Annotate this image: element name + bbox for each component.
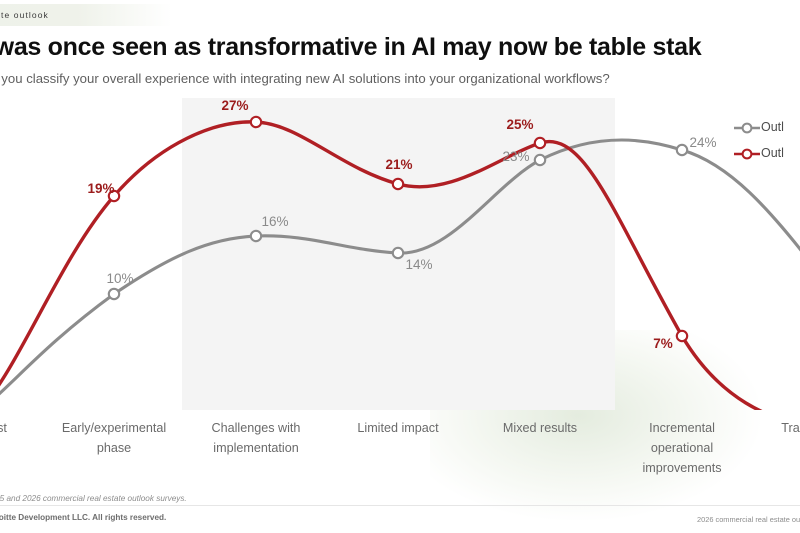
x-axis-label-6: Tran — [744, 418, 800, 438]
x-axis-label-4: Mixed results — [460, 418, 620, 438]
x-axis-label-3: Limited impact — [318, 418, 478, 438]
data-label: 21% — [385, 157, 412, 172]
legend-marker-icon — [734, 147, 760, 159]
x-axis-label-1: Early/experimental phase — [34, 418, 194, 458]
line-chart: 19% 27% 21% 25% 7% 10% 16% 14% 23% 24% — [0, 98, 800, 410]
footer-source-note: 2025 and 2026 commercial real estate out… — [0, 494, 187, 503]
footer-right-tag: 2026 commercial real estate ou — [697, 515, 800, 524]
x-axis-label-line: Early/experimental — [34, 418, 194, 438]
data-label: 16% — [261, 214, 288, 229]
x-axis-label-line: phase — [34, 438, 194, 458]
data-label: 14% — [405, 257, 432, 272]
legend-item-2026[interactable]: Outl — [734, 140, 800, 166]
legend-marker-icon — [734, 121, 760, 133]
data-label: 25% — [506, 117, 533, 132]
x-axis-labels: st Early/experimental phase Challenges w… — [0, 418, 800, 488]
x-axis-label-line: Mixed results — [460, 418, 620, 438]
x-axis-label-line: Challenges with — [176, 418, 336, 438]
page-title: t was once seen as transformative in AI … — [0, 33, 800, 62]
legend-label: Outl — [761, 146, 784, 160]
data-label: 23% — [502, 149, 529, 164]
footer-divider — [0, 505, 800, 506]
x-axis-label-line: improvements — [602, 458, 762, 478]
x-axis-label-line: Tran — [744, 418, 800, 438]
page-subtitle: uld you classify your overall experience… — [0, 71, 800, 86]
footer-copyright: Deloitte Development LLC. All rights res… — [0, 513, 166, 522]
x-axis-label-5: Incremental operational improvements — [602, 418, 762, 478]
chart-legend: Outl Outl — [734, 114, 800, 166]
legend-label: Outl — [761, 120, 784, 134]
x-axis-label-line: Limited impact — [318, 418, 478, 438]
x-axis-label-line: Incremental — [602, 418, 762, 438]
legend-item-2025[interactable]: Outl — [734, 114, 800, 140]
x-axis-label-line: implementation — [176, 438, 336, 458]
eyebrow-tag-label: rcial real estate outlook — [0, 10, 49, 20]
slide-canvas: rcial real estate outlook t was once see… — [0, 0, 800, 533]
data-label: 27% — [221, 98, 248, 113]
data-label: 7% — [653, 336, 673, 351]
eyebrow-tag: rcial real estate outlook — [0, 4, 172, 26]
data-label: 10% — [106, 271, 133, 286]
x-axis-label-line: operational — [602, 438, 762, 458]
data-label: 24% — [689, 135, 716, 150]
x-axis-label-2: Challenges with implementation — [176, 418, 336, 458]
data-label: 19% — [87, 181, 114, 196]
